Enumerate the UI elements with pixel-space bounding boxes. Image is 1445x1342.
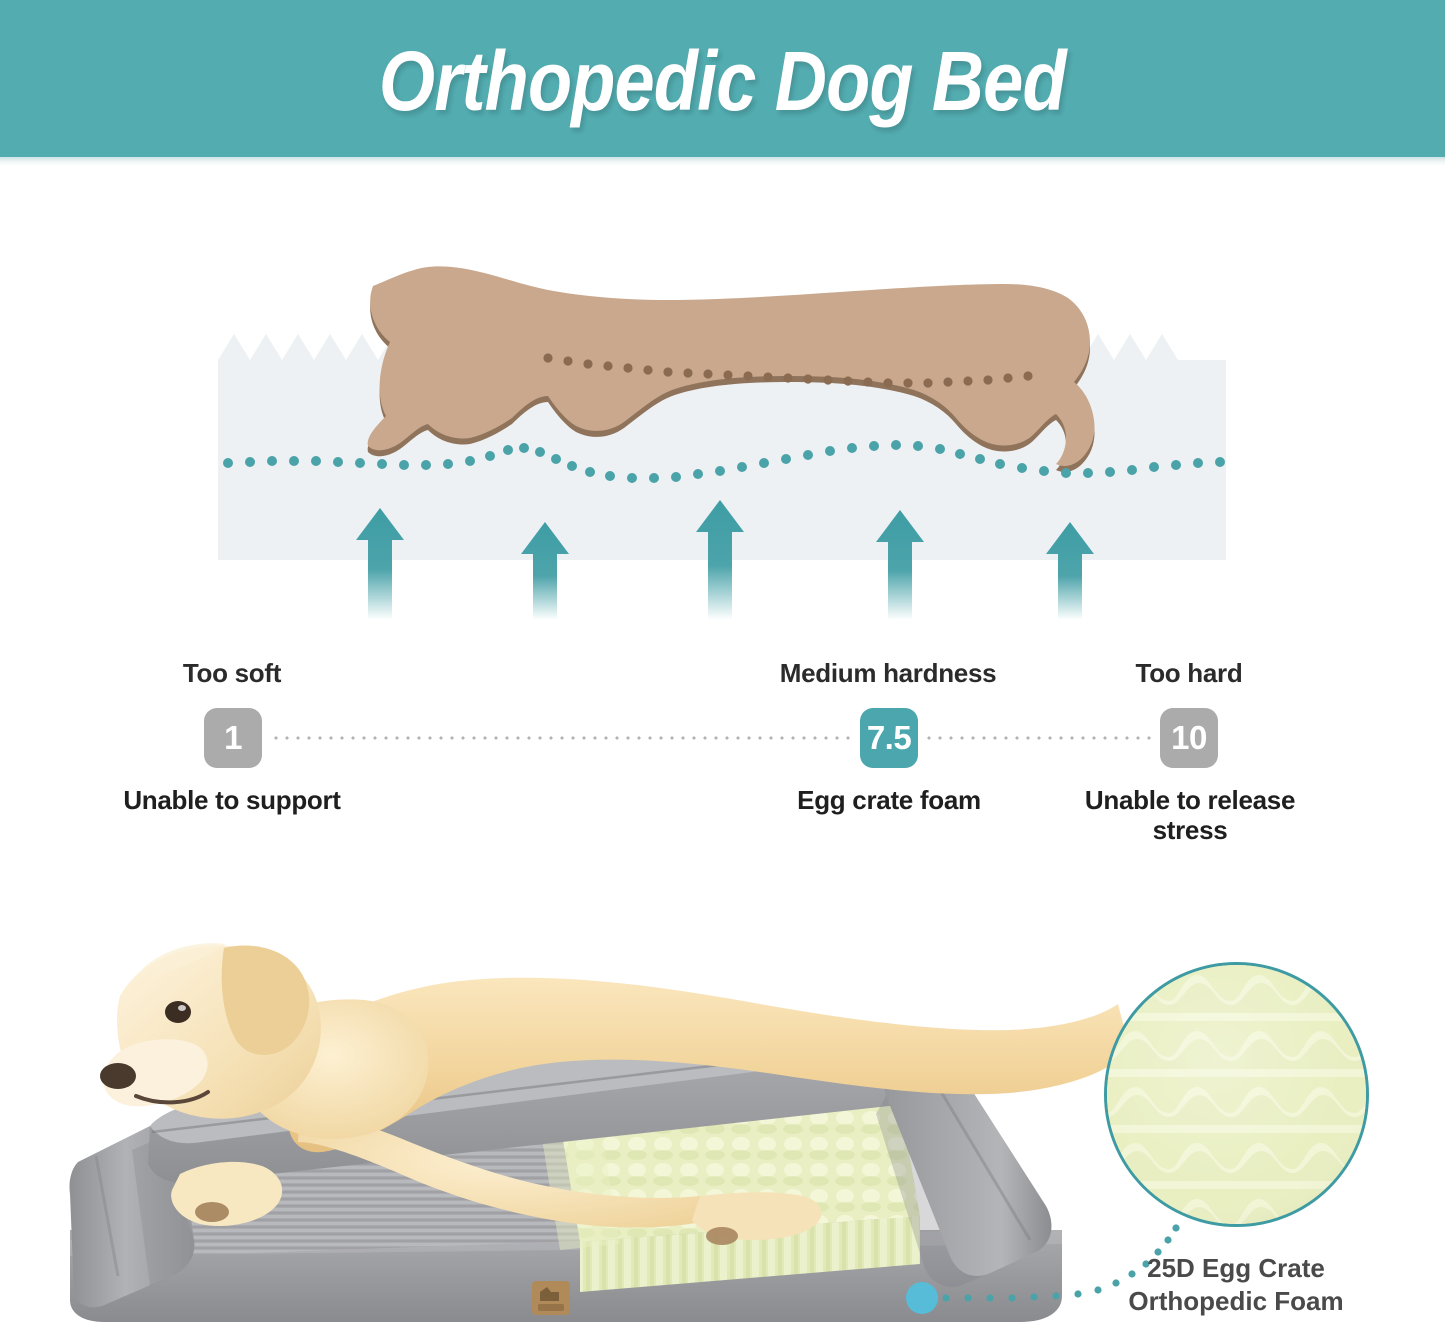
page-title: Orthopedic Dog Bed (379, 39, 1066, 123)
scale-badge-7-5[interactable]: 7.5 (860, 708, 918, 768)
scale-top-label-hard: Too hard (1136, 658, 1243, 689)
hardness-scale: Too soft Medium hardness Too hard 1 7.5 … (0, 630, 1445, 870)
callout-caption: 25D Egg Crate Orthopedic Foam (1128, 1252, 1343, 1317)
scale-top-label-medium: Medium hardness (780, 658, 997, 689)
callout-foam-texture (1107, 965, 1366, 1224)
dog-eye (165, 1001, 191, 1023)
scale-track-right (922, 736, 1156, 740)
foam-marker-dot (906, 1282, 938, 1314)
dog-paw-right-pad (706, 1227, 738, 1245)
foam-diagram-svg (0, 200, 1445, 620)
scale-bottom-label-stress: Unable to release stress (1085, 785, 1295, 846)
dog-paw-left-pad (195, 1202, 229, 1222)
scale-badge-10[interactable]: 10 (1160, 708, 1218, 768)
scale-badge-1[interactable]: 1 (204, 708, 262, 768)
header-banner: Orthopedic Dog Bed (0, 0, 1445, 157)
foam-support-diagram (0, 200, 1445, 620)
scale-bottom-label-stress-line1: Unable to release (1085, 785, 1295, 815)
dog-nose (100, 1063, 136, 1089)
scale-track-left (268, 736, 856, 740)
egg-crate-foam-callout (1104, 962, 1369, 1227)
scale-bottom-label-stress-line2: stress (1085, 815, 1295, 845)
callout-caption-line1: 25D Egg Crate (1128, 1252, 1343, 1285)
scale-bottom-label-support: Unable to support (123, 785, 340, 815)
dog-eye-highlight (178, 1005, 186, 1011)
callout-caption-line2: Orthopedic Foam (1128, 1285, 1343, 1318)
brand-tag (532, 1281, 570, 1315)
scale-top-label-soft: Too soft (183, 658, 281, 689)
header-divider (0, 157, 1445, 166)
scale-bottom-label-eggcrate: Egg crate foam (797, 785, 981, 815)
